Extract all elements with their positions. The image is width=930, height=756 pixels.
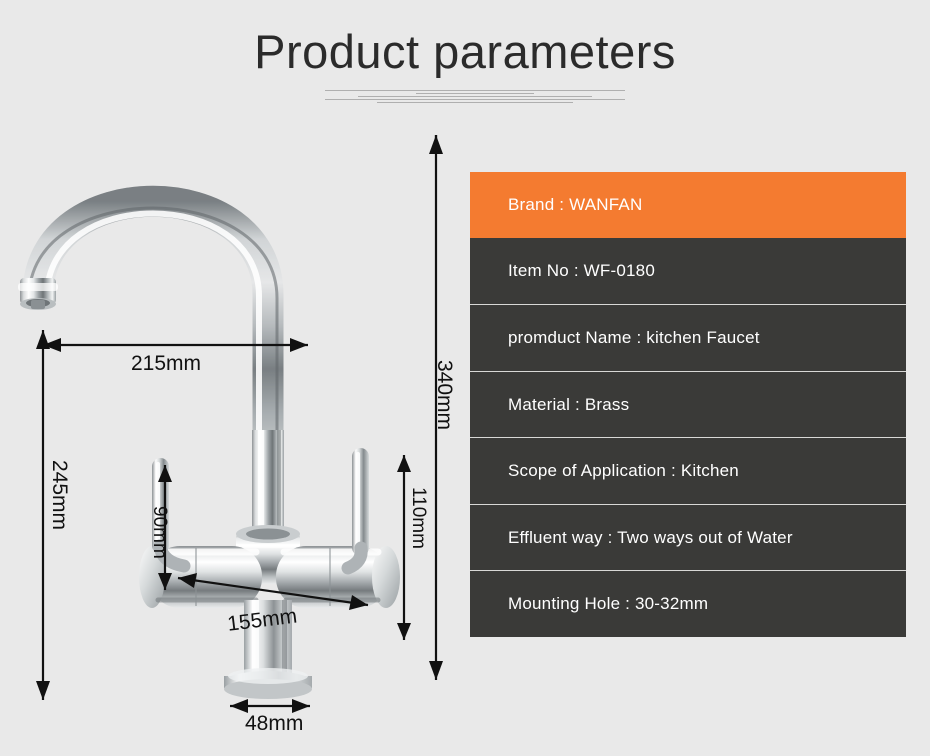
spec-row: Mounting Hole : 30-32mm bbox=[470, 571, 906, 637]
specification-table: Brand : WANFANItem No : WF-0180promduct … bbox=[470, 172, 906, 637]
spec-row: Effluent way : Two ways out of Water bbox=[470, 505, 906, 572]
spec-row: Brand : WANFAN bbox=[470, 172, 906, 239]
spec-row: promduct Name : kitchen Faucet bbox=[470, 305, 906, 372]
product-parameters-page: Product parameters bbox=[0, 0, 930, 756]
spec-row: Scope of Application : Kitchen bbox=[470, 438, 906, 505]
spec-row: Material : Brass bbox=[470, 372, 906, 439]
spec-row: Item No : WF-0180 bbox=[470, 239, 906, 306]
page-title: Product parameters bbox=[0, 26, 930, 78]
faucet-product-image bbox=[0, 100, 460, 750]
